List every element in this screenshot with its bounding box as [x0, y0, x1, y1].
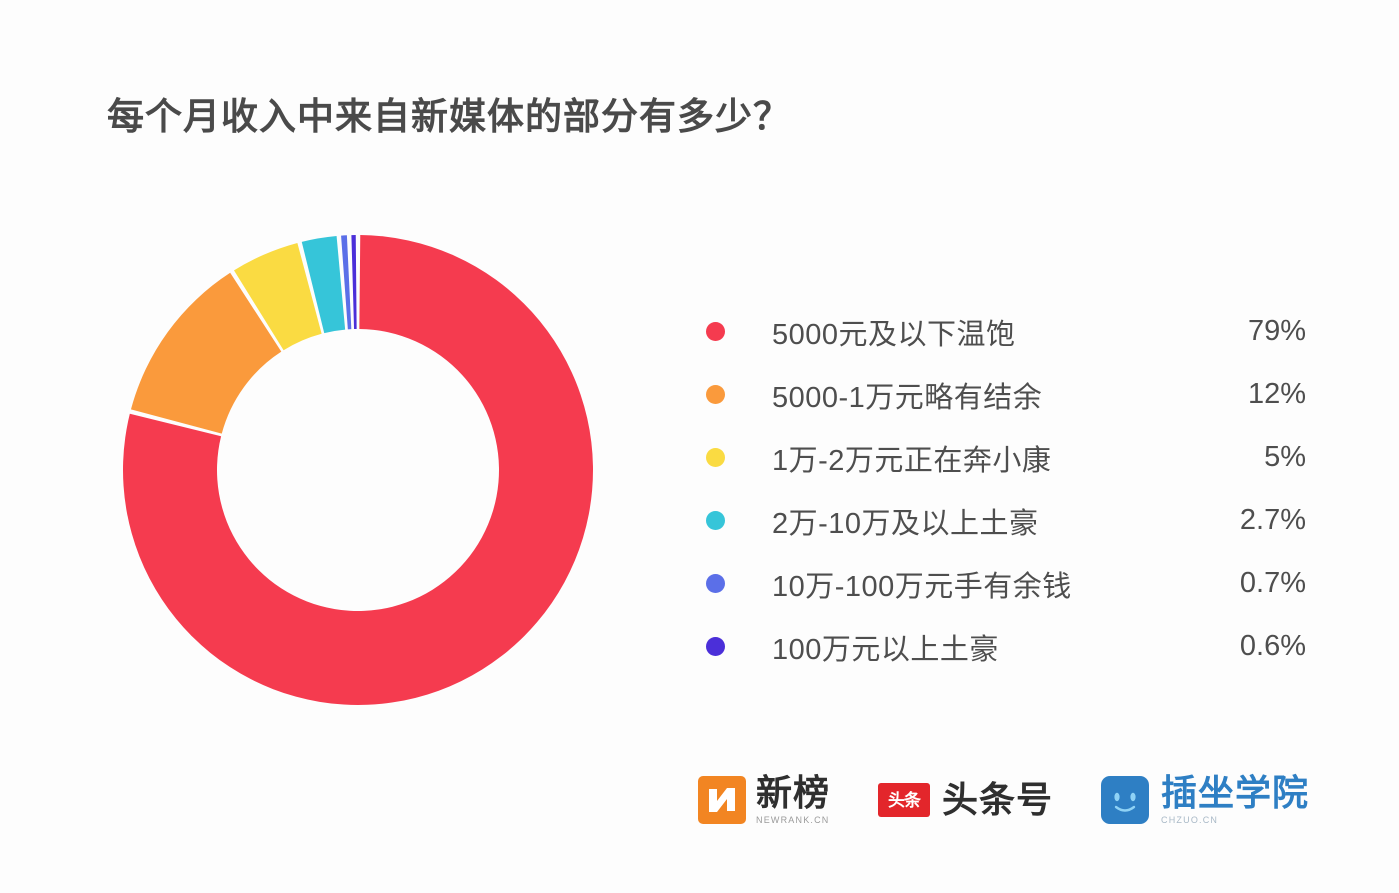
logo-chazuo: 插坐学院 CHZUO.CN [1101, 775, 1309, 825]
logo-newrank: 新榜 NEWRANK.CN [698, 775, 830, 825]
legend-item[interactable]: 5000元及以下温饱79% [706, 300, 1306, 363]
legend-color-swatch [706, 574, 725, 593]
legend-item-value: 0.6% [1188, 630, 1306, 663]
toutiao-icon-text: 头条 [888, 792, 920, 809]
legend-color-swatch [706, 448, 725, 467]
logo-subtitle: CHZUO.CN [1161, 815, 1309, 825]
legend-color-swatch [706, 322, 725, 341]
legend-item-label: 5000-1万元略有结余 [772, 374, 1188, 416]
donut-svg [110, 222, 606, 718]
page-title: 每个月收入中来自新媒体的部分有多少？ [107, 86, 791, 140]
legend-item[interactable]: 5000-1万元略有结余12% [706, 363, 1306, 426]
logo-name: 插坐学院 [1161, 775, 1309, 811]
logo-name: 头条号 [942, 782, 1053, 818]
logo-toutiaohao: 头条 头条号 [878, 782, 1053, 818]
legend-item[interactable]: 1万-2万元正在奔小康5% [706, 426, 1306, 489]
donut-slices [123, 235, 593, 705]
legend-item-label: 10万-100万元手有余钱 [772, 563, 1188, 605]
legend-item-value: 79% [1188, 315, 1306, 348]
donut-chart [110, 222, 606, 718]
chart-page: 每个月收入中来自新媒体的部分有多少？ 5000元及以下温饱79%5000-1万元… [0, 0, 1399, 893]
legend-item-value: 2.7% [1188, 504, 1306, 537]
legend-color-swatch [706, 385, 725, 404]
legend-item[interactable]: 2万-10万及以上土豪2.7% [706, 489, 1306, 552]
donut-slice[interactable] [351, 235, 356, 329]
legend-color-swatch [706, 637, 725, 656]
legend-item-value: 12% [1188, 378, 1306, 411]
legend-color-swatch [706, 511, 725, 530]
legend-item-value: 0.7% [1188, 567, 1306, 600]
legend-item-value: 5% [1188, 441, 1306, 474]
legend-item-label: 2万-10万及以上土豪 [772, 500, 1188, 542]
legend-item-label: 100万元以上土豪 [772, 626, 1188, 668]
newrank-n-icon [698, 776, 746, 824]
chart-legend: 5000元及以下温饱79%5000-1万元略有结余12%1万-2万元正在奔小康5… [706, 300, 1306, 678]
logo-name: 新榜 [756, 775, 830, 811]
legend-item-label: 1万-2万元正在奔小康 [772, 437, 1188, 479]
chazuo-face-icon [1101, 776, 1149, 824]
legend-item[interactable]: 10万-100万元手有余钱0.7% [706, 552, 1306, 615]
legend-item-label: 5000元及以下温饱 [772, 311, 1188, 353]
toutiao-icon: 头条 [878, 783, 930, 817]
legend-item[interactable]: 100万元以上土豪0.6% [706, 615, 1306, 678]
logo-subtitle: NEWRANK.CN [756, 815, 830, 825]
logo-bar: 新榜 NEWRANK.CN 头条 头条号 插坐学院 CHZUO [698, 775, 1309, 825]
